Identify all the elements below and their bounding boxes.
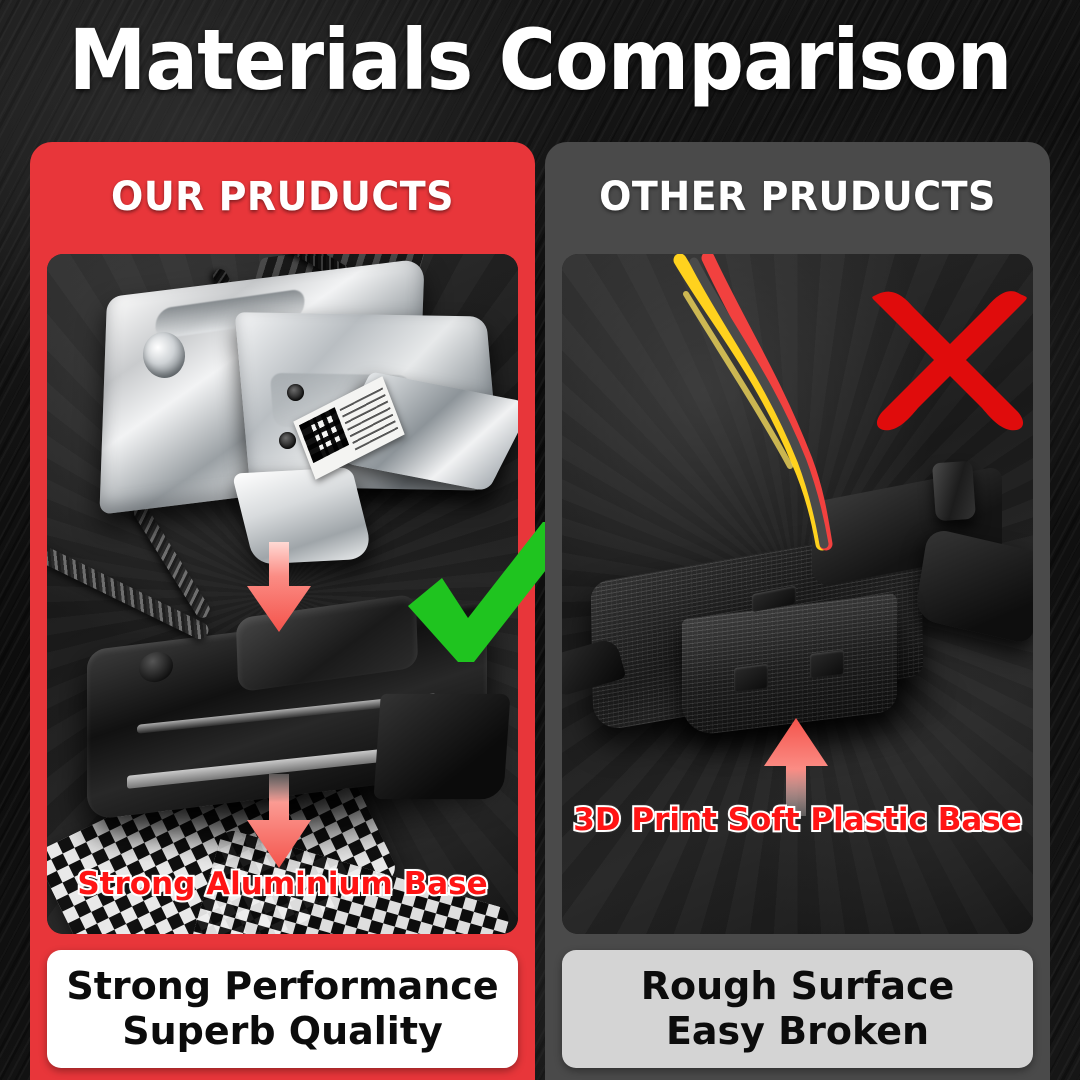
caption-other-products: Rough Surface Easy Broken (562, 950, 1033, 1068)
callout-other: 3D Print Soft Plastic Base (562, 802, 1033, 838)
panel-other-products: OTHER PRUDUCTS (545, 142, 1050, 1080)
product-photo-other: 3D Print Soft Plastic Base (562, 254, 1033, 934)
arrow-down-icon-top (243, 542, 315, 634)
arrow-down-icon-bottom (243, 774, 315, 870)
caption-ours-line2: Superb Quality (122, 1009, 443, 1054)
caption-other-line2: Easy Broken (666, 1009, 929, 1054)
screw-upper (287, 384, 304, 401)
plastic-tab-right (810, 650, 844, 678)
aluminium-base-lip (373, 694, 510, 799)
plastic-part-post (932, 461, 976, 522)
callout-ours: Strong Aluminium Base (47, 866, 518, 902)
label-text-lines (340, 387, 399, 450)
materials-comparison-infographic: Materials Comparison OUR PRUDUCTS (0, 0, 1080, 1080)
panel-header-other-products: OTHER PRUDUCTS (558, 142, 1038, 252)
plastic-tab-left (734, 664, 768, 692)
cross-icon (862, 284, 1033, 434)
caption-ours-line1: Strong Performance (66, 964, 498, 1009)
arrow-up-icon (760, 716, 832, 816)
page-title: Materials Comparison (38, 18, 1042, 104)
check-icon (400, 522, 560, 672)
panel-our-products: OUR PRUDUCTS (30, 142, 535, 1080)
screw-lower (279, 432, 296, 449)
panel-header-our-products: OUR PRUDUCTS (43, 142, 523, 252)
caption-other-line1: Rough Surface (641, 964, 955, 1009)
caption-our-products: Strong Performance Superb Quality (47, 950, 518, 1068)
